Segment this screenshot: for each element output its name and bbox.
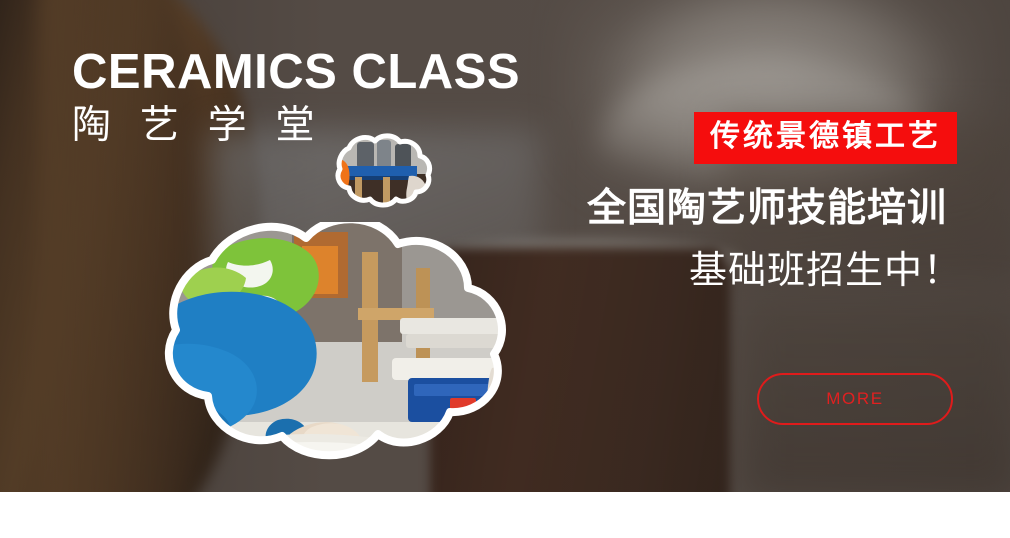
big-cloud-photo — [62, 222, 552, 522]
more-button[interactable]: MORE — [757, 373, 953, 425]
bottom-white-band — [0, 492, 1010, 538]
small-cloud-photo — [313, 132, 435, 232]
title-english: CERAMICS CLASS — [72, 48, 520, 98]
title-chinese: 陶 艺 学 堂 — [72, 106, 520, 147]
ceramics-class-banner: CERAMICS CLASS 陶 艺 学 堂 传统景德镇工艺 全国陶艺师技能培训… — [0, 0, 1010, 538]
promo-headline: 全国陶艺师技能培训 — [566, 188, 968, 231]
status-badge: 传统景德镇工艺 — [694, 112, 957, 164]
page-title: CERAMICS CLASS 陶 艺 学 堂 — [72, 48, 520, 147]
more-button-label: MORE — [826, 389, 883, 409]
promo-subline: 基础班招生中！ — [566, 251, 968, 293]
promo-column: 传统景德镇工艺 全国陶艺师技能培训 基础班招生中！ — [566, 112, 968, 293]
